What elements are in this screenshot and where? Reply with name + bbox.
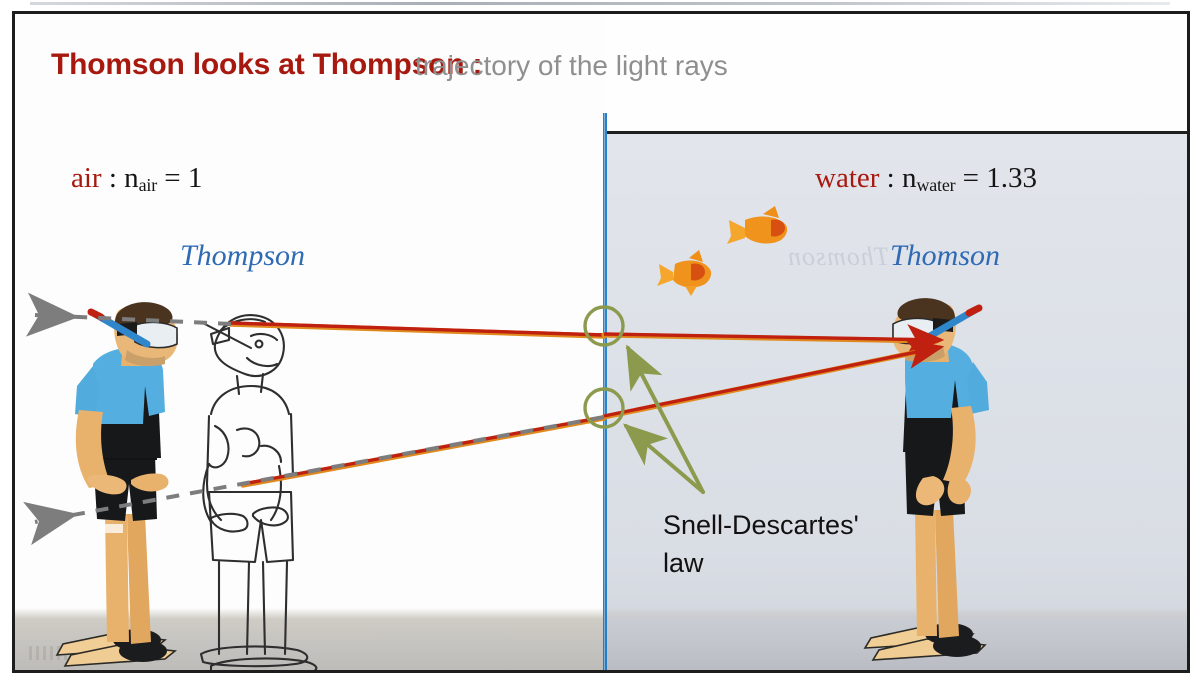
- incident-ray-upper: [231, 323, 604, 335]
- goldfish-upper: [727, 206, 787, 244]
- scan-edge: [0, 0, 1200, 8]
- diagram-frame: Thomson looks at Thompson : trajectory o…: [12, 11, 1190, 673]
- refracted-ray-lower: [604, 347, 941, 416]
- refraction-point-marker-upper: [585, 307, 623, 345]
- refraction-point-marker-lower: [585, 389, 623, 427]
- diagram-page: Thomson looks at Thompson : trajectory o…: [0, 0, 1200, 685]
- optics-overlay: [15, 14, 1190, 673]
- diver-thompson-figure: [57, 302, 178, 666]
- goldfish-lower: [657, 250, 711, 296]
- refraction-markers-group: [585, 307, 623, 427]
- virtual-image-outline-figure: [201, 315, 316, 673]
- snell-arrow-upper: [628, 348, 703, 492]
- snell-arrow-lower: [626, 426, 703, 492]
- snell-pointer-arrows: [626, 348, 703, 492]
